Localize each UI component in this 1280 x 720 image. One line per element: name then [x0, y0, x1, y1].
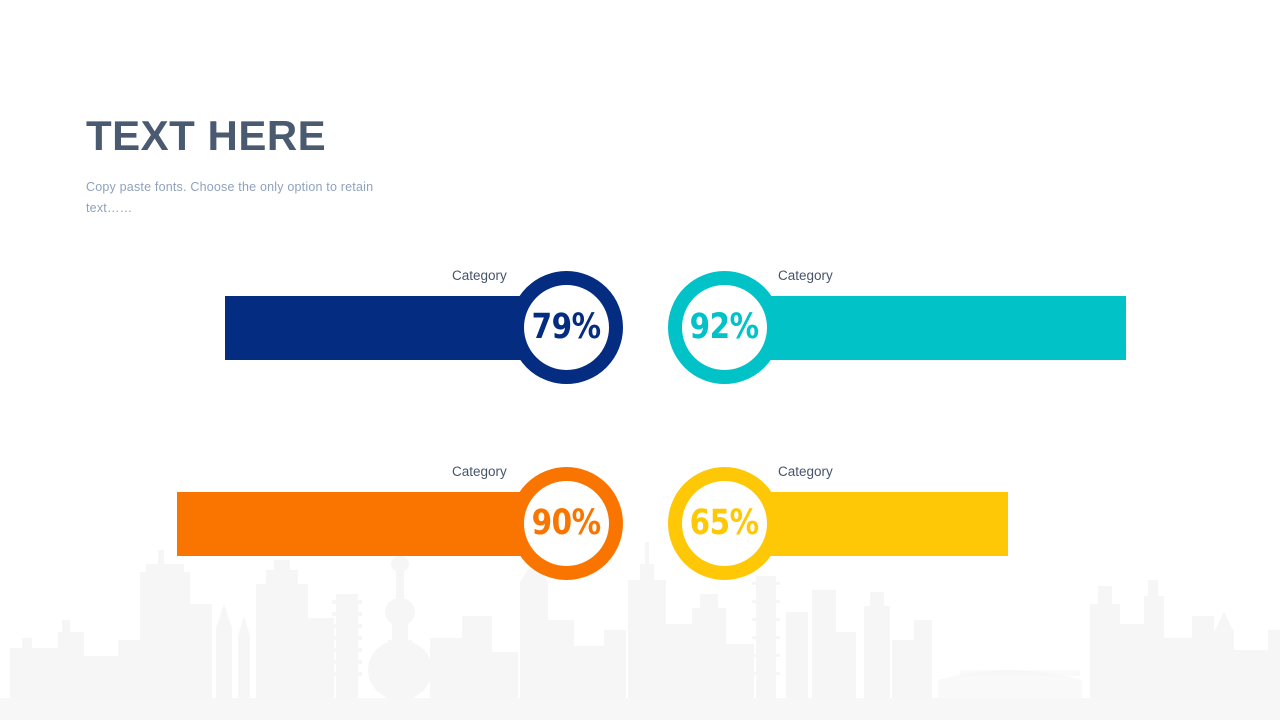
- percent-ring-1: 79%: [510, 271, 623, 384]
- category-label-3: Category: [452, 464, 507, 479]
- percent-value-1: 79%: [532, 310, 601, 345]
- percent-value-4: 65%: [690, 506, 759, 541]
- heading-block: TEXT HERE Copy paste fonts. Choose the o…: [86, 113, 506, 218]
- percent-ring-4: 65%: [668, 467, 781, 580]
- category-label-1: Category: [452, 268, 507, 283]
- category-label-4: Category: [778, 464, 833, 479]
- progress-bar-3: [177, 492, 562, 556]
- metric-item-1[interactable]: Category 79%: [225, 268, 623, 388]
- skyline-baseline: [0, 698, 1280, 720]
- percent-ring-3: 90%: [510, 467, 623, 580]
- page-title: TEXT HERE: [86, 113, 506, 159]
- percent-value-3: 90%: [532, 506, 601, 541]
- page-subtitle: Copy paste fonts. Choose the only option…: [86, 177, 378, 218]
- percent-ring-2: 92%: [668, 271, 781, 384]
- category-label-2: Category: [778, 268, 833, 283]
- percent-value-2: 92%: [690, 310, 759, 345]
- progress-bar-2: [726, 296, 1126, 360]
- metric-item-3[interactable]: Category 90%: [177, 464, 623, 584]
- metric-item-4[interactable]: Category 65%: [668, 464, 1008, 584]
- slide-canvas: TEXT HERE Copy paste fonts. Choose the o…: [0, 0, 1280, 720]
- metric-item-2[interactable]: Category 92%: [668, 268, 1126, 388]
